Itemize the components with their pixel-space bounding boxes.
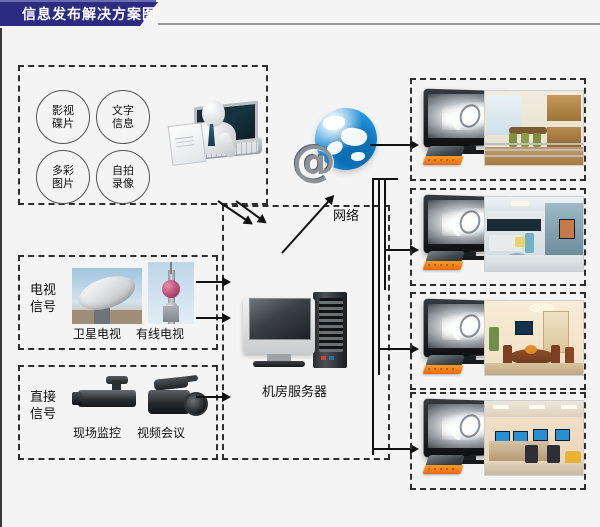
stb-front-panel [423,365,464,374]
server-vent-grille [319,298,343,352]
globe-landmass [323,116,345,130]
set-top-box-icon [424,355,464,377]
kitchen-upper-cabinets [547,95,581,121]
circle-video-disc: 影视 碟片 [36,90,90,144]
dish-base [94,308,110,324]
circle-label-line2: 信息 [112,117,134,130]
desk-partition [489,441,549,461]
cable-tv-caption: 有线电视 [136,327,184,342]
camcorder-handle [154,376,189,390]
floor [485,463,583,475]
circle-label-line2: 碟片 [52,117,74,130]
arrow-tv-to-server-head [222,277,231,287]
bus-branch-panel3 [378,348,414,350]
circle-label-line1: 影视 [52,104,74,117]
satellite-dish-icon [72,268,142,324]
stb-front-panel [423,261,464,270]
arrow-tv2-to-server-head [222,313,231,323]
tv-signal-label-line1: 电视 [30,283,56,298]
stair-rail [485,149,583,151]
video-conference-caption: 视频会议 [137,426,185,441]
network-label: 网络 [333,209,359,224]
server-power-led [321,356,326,360]
media-console [487,219,541,231]
arrow-direct-to-server-head [222,392,231,402]
circle-label-line1: 文字 [112,104,134,117]
ceiling-light [561,405,577,409]
ceiling-light [529,405,545,409]
banner-rule [158,23,600,25]
bus-trunk-inner [384,180,386,290]
person-with-laptop-icon [168,98,278,188]
circle-label-line1: 自拍 [112,164,134,177]
floor [485,363,583,375]
circle-color-images: 多彩 图片 [36,150,90,204]
server-monitor-foot [253,361,305,367]
camera-lens [72,392,82,405]
tv-signal-label-line2: 信号 [30,300,56,315]
workstation-monitor [533,429,548,441]
wall-mounted-tv [515,321,533,335]
dining-kitchen-room-photo [484,90,584,166]
set-top-box-icon [424,146,464,168]
globe-landmass [339,125,368,148]
modern-living-room-photo [484,196,584,272]
circle-self-recording: 自拍 录像 [96,150,150,204]
bus-trunk-outer-top [372,178,386,180]
arrow-direct-to-server-line [196,396,224,398]
circle-label-line2: 录像 [112,177,134,190]
circle-label-line2: 图片 [52,177,74,190]
stb-front-panel [423,465,464,474]
tower-sphere-upper [162,280,180,298]
stair-rail [485,155,583,157]
ceiling-tiles [485,401,583,417]
satellite-tv-caption: 卫星电视 [73,327,121,342]
office-workstations-photo [484,400,584,476]
bus-trunk-outer [372,180,374,455]
title-banner: 信息发布解决方案图 [0,0,600,28]
office-chair [547,445,560,463]
workstation-monitor [555,429,570,441]
bus-branch-panel4 [372,448,414,450]
desktop-server-icon [243,292,353,372]
tower-base [163,306,179,322]
cctv-camera-icon [72,374,142,420]
circle-label-line1: 多彩 [52,164,74,177]
stb-front-panel [423,156,464,165]
document-sheet [168,122,207,166]
left-page-edge [0,28,2,527]
ceiling-light [493,405,509,409]
direct-signal-label-line2: 信号 [30,407,56,422]
ceiling-light [511,201,529,206]
tv-tower-icon [148,262,194,324]
floor-lamp [525,233,534,253]
circle-text-info: 文字 信息 [96,90,150,144]
page-title: 信息发布解决方案图 [22,4,157,24]
globe-landmass [351,152,365,161]
set-top-box-icon [424,251,464,273]
stair-rail [485,143,583,145]
at-symbol-icon: @ [292,140,336,184]
bus-trunk-middle [378,180,380,375]
camera-body [78,390,136,407]
set-top-box-icon [424,455,464,477]
fruit-bowl [525,345,537,354]
server-activity-led [329,356,334,360]
server-monitor-screen [249,298,311,340]
site-monitoring-caption: 现场监控 [73,426,121,441]
office-chair [525,445,538,463]
direct-signal-label-line1: 直接 [30,390,56,405]
tile-floor [485,255,583,271]
person-head [202,100,225,127]
server-label: 机房服务器 [262,385,327,400]
diagram-canvas: 信息发布解决方案图 影视 碟片 文字 信息 多彩 图片 自拍 录像 电视 信号 [0,0,600,527]
tower-spire [170,262,172,274]
wall-art [559,219,575,239]
potted-plant [489,327,499,351]
warm-dining-room-photo [484,300,584,376]
arrow-tv2-to-server-line [196,317,224,319]
arrow-tv-to-server-line [196,281,224,283]
bus-line-to-panel1 [370,144,414,146]
